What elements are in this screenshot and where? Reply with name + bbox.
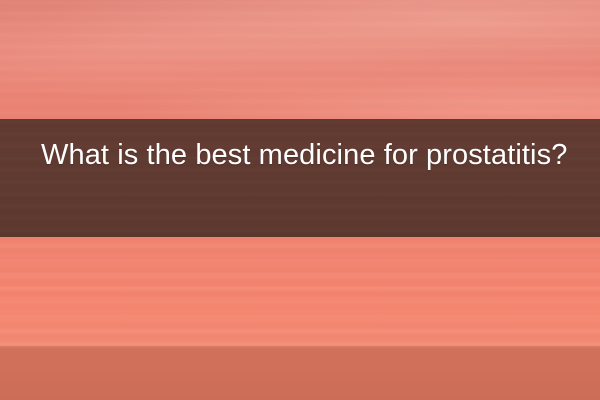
cloud-streak-texture-lower <box>0 230 600 348</box>
caption-title-text: What is the best medicine for prostatiti… <box>41 136 589 174</box>
screenshot-canvas: What is the best medicine for prostatiti… <box>0 0 600 400</box>
caption-overlay-band: What is the best medicine for prostatiti… <box>0 119 600 237</box>
ground-band <box>0 348 600 400</box>
